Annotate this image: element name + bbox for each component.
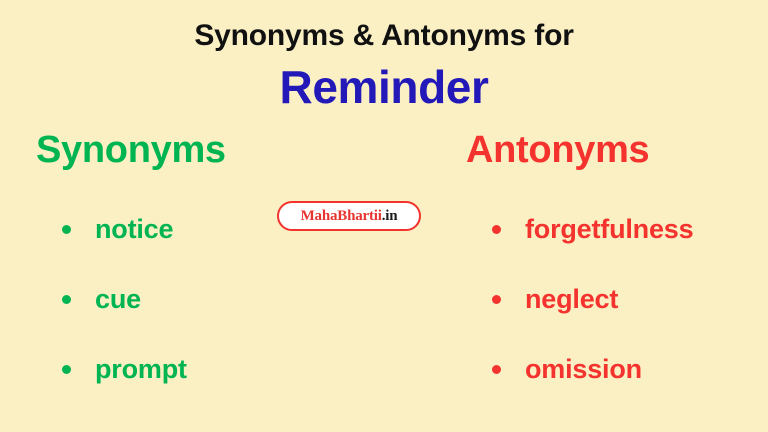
page-title: Synonyms & Antonyms for xyxy=(0,0,768,55)
synonym-word: cue xyxy=(95,284,141,315)
bullet-icon xyxy=(492,295,501,304)
watermark-brand: MahaBhartii xyxy=(301,208,382,224)
bullet-icon xyxy=(492,365,501,374)
synonyms-antonyms-infographic: Synonyms & Antonyms for Reminder Synonym… xyxy=(0,0,768,432)
list-item: omission xyxy=(466,335,768,405)
header: Synonyms & Antonyms for Reminder xyxy=(0,0,768,112)
bullet-icon xyxy=(62,365,71,374)
bullet-icon xyxy=(492,225,501,234)
bullet-icon xyxy=(62,295,71,304)
list-item: forgetfulness xyxy=(466,195,768,265)
watermark-tld: .in xyxy=(382,208,398,224)
antonyms-list: forgetfulness neglect omission xyxy=(466,173,768,405)
watermark-label: MahaBhartii.in xyxy=(301,208,398,225)
antonyms-column: Antonyms forgetfulness neglect omission xyxy=(384,128,768,432)
word-columns: Synonyms notice cue prompt Antonyms xyxy=(0,128,768,432)
list-item: prompt xyxy=(36,335,384,405)
synonyms-heading: Synonyms xyxy=(36,128,384,173)
antonym-word: omission xyxy=(525,354,642,385)
synonym-word: prompt xyxy=(95,354,187,385)
antonym-word: forgetfulness xyxy=(525,214,693,245)
watermark-badge: MahaBhartii.in xyxy=(277,201,421,231)
list-item: neglect xyxy=(466,265,768,335)
antonym-word: neglect xyxy=(525,284,618,315)
target-word: Reminder xyxy=(0,55,768,113)
synonym-word: notice xyxy=(95,214,173,245)
synonyms-column: Synonyms notice cue prompt xyxy=(0,128,384,432)
list-item: cue xyxy=(36,265,384,335)
antonyms-heading: Antonyms xyxy=(466,128,768,173)
bullet-icon xyxy=(62,225,71,234)
